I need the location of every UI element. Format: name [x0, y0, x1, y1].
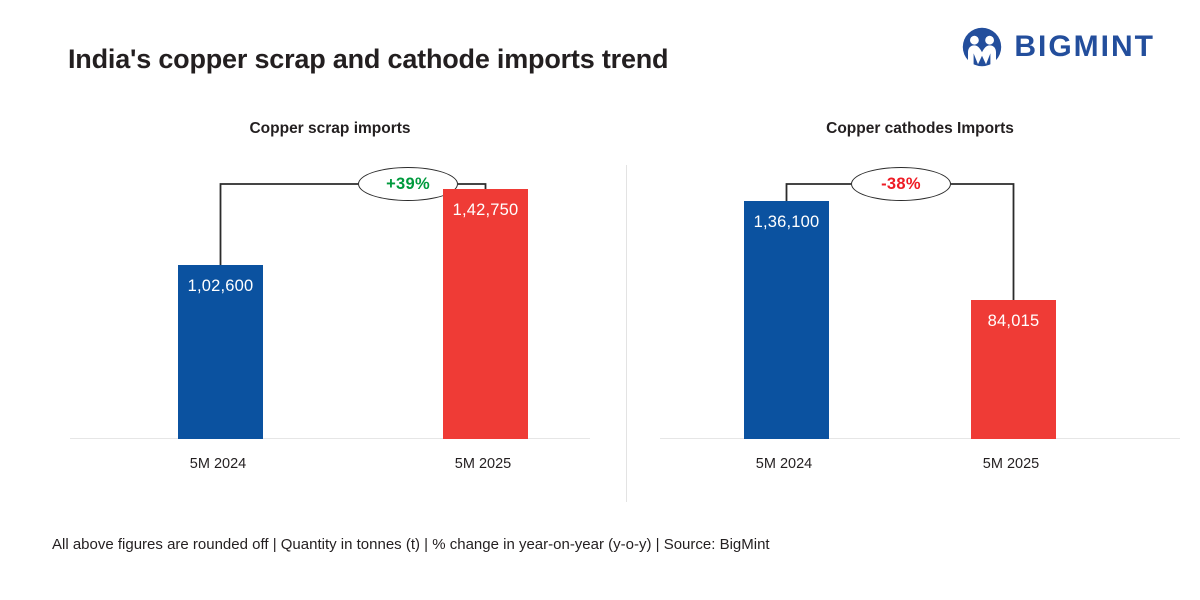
chart-panel-copper-cathodes: Copper cathodes Imports -38% 1,36,100 84…: [650, 110, 1190, 510]
bar-value-5m-2025-scrap: 1,42,750: [443, 201, 528, 220]
page-title: India's copper scrap and cathode imports…: [68, 44, 668, 75]
panel-divider: [626, 165, 627, 502]
bar-value-5m-2024-scrap: 1,02,600: [178, 277, 263, 296]
plot-area-copper-scrap: +39% 1,02,600 1,42,750 5M 2024 5M 2025: [60, 165, 600, 484]
x-axis-line-cathodes: [660, 438, 1180, 440]
yoy-change-badge-cathodes: -38%: [851, 167, 951, 201]
decline-connector-arrow-cathodes: [650, 165, 1190, 484]
plot-area-copper-cathodes: -38% 1,36,100 84,015 5M 2024 5M 2025: [650, 165, 1190, 484]
bar-5m-2024-cathodes: 1,36,100: [744, 201, 829, 439]
bar-5m-2024-scrap: 1,02,600: [178, 265, 263, 439]
x-label-5m-2024-scrap: 5M 2024: [143, 456, 293, 472]
footnote-text: All above figures are rounded off | Quan…: [52, 536, 770, 553]
bigmint-logo-text: BIGMINT: [1014, 32, 1155, 62]
chart-panel-copper-scrap: Copper scrap imports +39% 1,02,600: [60, 110, 600, 510]
chart-title-copper-scrap: Copper scrap imports: [60, 120, 600, 138]
bar-5m-2025-scrap: 1,42,750: [443, 189, 528, 439]
chart-title-copper-cathodes: Copper cathodes Imports: [650, 120, 1190, 138]
x-label-5m-2025-cathodes: 5M 2025: [936, 456, 1086, 472]
bigmint-logo-icon: [962, 27, 1002, 67]
bar-value-5m-2024-cathodes: 1,36,100: [744, 213, 829, 232]
x-label-5m-2024-cathodes: 5M 2024: [709, 456, 859, 472]
bigmint-logo: BIGMINT: [962, 27, 1155, 67]
x-label-5m-2025-scrap: 5M 2025: [408, 456, 558, 472]
infographic-page: India's copper scrap and cathode imports…: [0, 0, 1200, 600]
bar-5m-2025-cathodes: 84,015: [971, 300, 1056, 439]
bar-value-5m-2025-cathodes: 84,015: [971, 312, 1056, 331]
